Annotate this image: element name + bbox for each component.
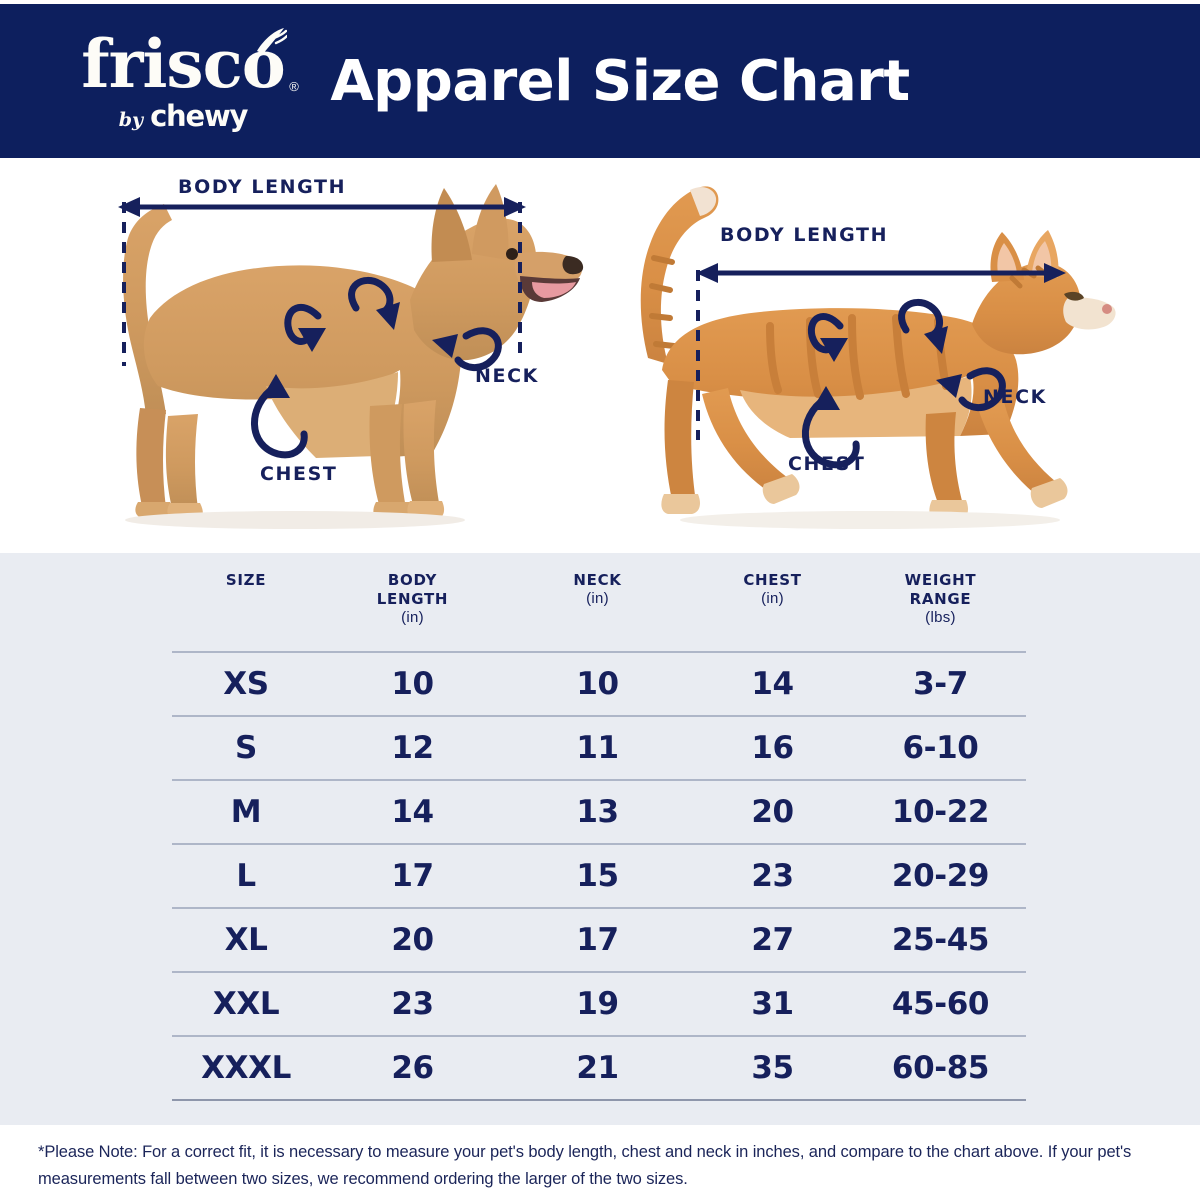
cell-chest: 31 [690, 972, 855, 1036]
brand-sub-lockup: by chewy [119, 99, 248, 133]
cell-weight-range: 60-85 [855, 1036, 1026, 1100]
column-header-body-length: BODY LENGTH (in) [320, 563, 505, 652]
size-table-section: SIZE BODY LENGTH (in) NECK (in) CHEST (i… [0, 553, 1200, 1125]
chewy-wordmark: chewy [150, 99, 247, 133]
cell-neck: 10 [505, 652, 690, 716]
apparel-size-table: SIZE BODY LENGTH (in) NECK (in) CHEST (i… [172, 563, 1026, 1101]
cell-body-length: 26 [320, 1036, 505, 1100]
size-chart-page: frisco ® by chewy Apparel Size Chart [0, 0, 1200, 1200]
registered-trademark-icon: ® [289, 80, 298, 93]
table-row: M 14 13 20 10-22 [172, 780, 1026, 844]
cell-neck: 11 [505, 716, 690, 780]
cell-chest: 27 [690, 908, 855, 972]
dog-body-length-label: BODY LENGTH [178, 176, 346, 198]
cell-neck: 15 [505, 844, 690, 908]
dog-diagram: BODY LENGTH NECK CHEST [80, 158, 600, 553]
cat-chest-label: CHEST [788, 453, 865, 475]
cell-neck: 19 [505, 972, 690, 1036]
table-header-row: SIZE BODY LENGTH (in) NECK (in) CHEST (i… [172, 563, 1026, 652]
cell-body-length: 23 [320, 972, 505, 1036]
brand-by-text: by [119, 109, 143, 131]
cell-weight-range: 10-22 [855, 780, 1026, 844]
table-row: XXXL 26 21 35 60-85 [172, 1036, 1026, 1100]
cell-body-length: 20 [320, 908, 505, 972]
dog-illustration [80, 158, 600, 553]
table-row: L 17 15 23 20-29 [172, 844, 1026, 908]
column-header-size-label: SIZE [226, 571, 266, 589]
column-header-weight-range-unit: (lbs) [855, 609, 1026, 628]
cell-size: S [172, 716, 320, 780]
column-header-weight-range-line2: RANGE [910, 590, 972, 608]
column-header-chest: CHEST (in) [690, 563, 855, 652]
cell-weight-range: 20-29 [855, 844, 1026, 908]
column-header-weight-range-line1: WEIGHT [905, 571, 977, 589]
footnote-section: *Please Note: For a correct fit, it is n… [0, 1125, 1200, 1200]
column-header-size: SIZE [172, 563, 320, 652]
cell-size: XXXL [172, 1036, 320, 1100]
cell-neck: 21 [505, 1036, 690, 1100]
column-header-neck: NECK (in) [505, 563, 690, 652]
table-header: SIZE BODY LENGTH (in) NECK (in) CHEST (i… [172, 563, 1026, 652]
cat-body-length-label: BODY LENGTH [720, 224, 888, 246]
cat-illustration [620, 158, 1140, 553]
cell-size: L [172, 844, 320, 908]
cell-chest: 35 [690, 1036, 855, 1100]
cell-weight-range: 25-45 [855, 908, 1026, 972]
cell-weight-range: 6-10 [855, 716, 1026, 780]
footnote-text: *Please Note: For a correct fit, it is n… [38, 1139, 1162, 1192]
brand-wordmark-text: frisco [81, 25, 285, 103]
cat-neck-label: NECK [983, 386, 1047, 408]
column-header-neck-label: NECK [573, 571, 621, 589]
cell-body-length: 14 [320, 780, 505, 844]
cell-body-length: 10 [320, 652, 505, 716]
column-header-chest-unit: (in) [690, 590, 855, 609]
cell-weight-range: 3-7 [855, 652, 1026, 716]
table-row: XL 20 17 27 25-45 [172, 908, 1026, 972]
table-body: XS 10 10 14 3-7 S 12 11 16 6-10 M 14 13 [172, 652, 1026, 1100]
column-header-weight-range: WEIGHT RANGE (lbs) [855, 563, 1026, 652]
table-row: XXL 23 19 31 45-60 [172, 972, 1026, 1036]
cell-size: M [172, 780, 320, 844]
cell-neck: 17 [505, 908, 690, 972]
column-header-body-length-line2: LENGTH [377, 590, 448, 608]
table-row: S 12 11 16 6-10 [172, 716, 1026, 780]
column-header-body-length-line1: BODY [388, 571, 437, 589]
frisco-logo: frisco ® by chewy [58, 26, 308, 138]
cell-size: XL [172, 908, 320, 972]
cell-size: XXL [172, 972, 320, 1036]
cell-size: XS [172, 652, 320, 716]
cell-chest: 14 [690, 652, 855, 716]
cell-weight-range: 45-60 [855, 972, 1026, 1036]
cell-chest: 20 [690, 780, 855, 844]
cat-diagram: BODY LENGTH NECK CHEST [620, 158, 1140, 553]
cell-chest: 23 [690, 844, 855, 908]
dog-neck-label: NECK [475, 365, 539, 387]
table-row: XS 10 10 14 3-7 [172, 652, 1026, 716]
measurement-diagrams: BODY LENGTH NECK CHEST [0, 158, 1200, 553]
dog-chest-label: CHEST [260, 463, 337, 485]
page-header: frisco ® by chewy Apparel Size Chart [0, 4, 1200, 158]
cell-body-length: 17 [320, 844, 505, 908]
cell-body-length: 12 [320, 716, 505, 780]
column-header-body-length-unit: (in) [320, 609, 505, 628]
column-header-chest-label: CHEST [743, 571, 801, 589]
column-header-neck-unit: (in) [505, 590, 690, 609]
brand-wordmark: frisco ® [81, 31, 285, 97]
cell-neck: 13 [505, 780, 690, 844]
cell-chest: 16 [690, 716, 855, 780]
